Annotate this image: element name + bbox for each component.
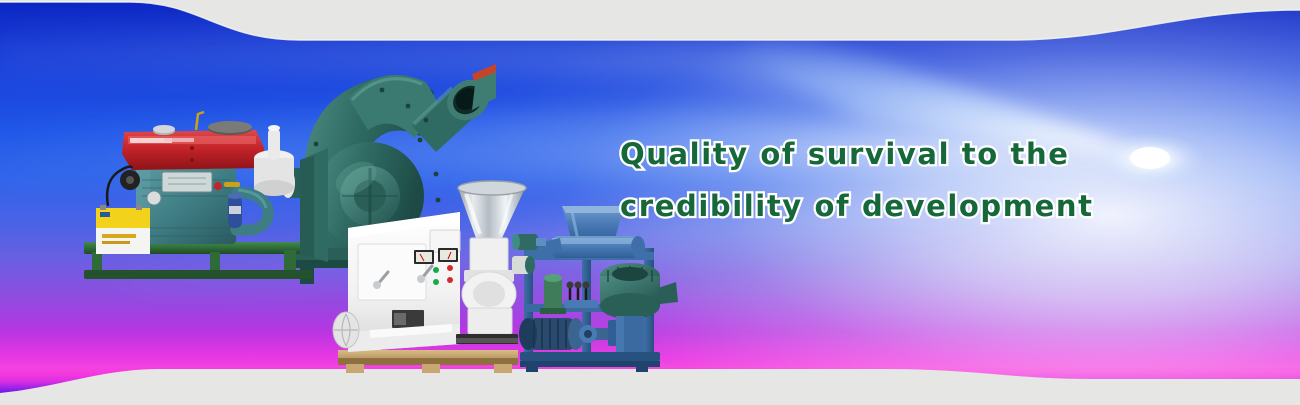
product-flat-die-pellet-mill (330, 172, 535, 377)
product-diesel-engine (78, 102, 328, 292)
product-feed-pellet-extruder-line (512, 186, 687, 374)
promotional-banner: Quality of survival to the credibility o… (0, 0, 1300, 405)
